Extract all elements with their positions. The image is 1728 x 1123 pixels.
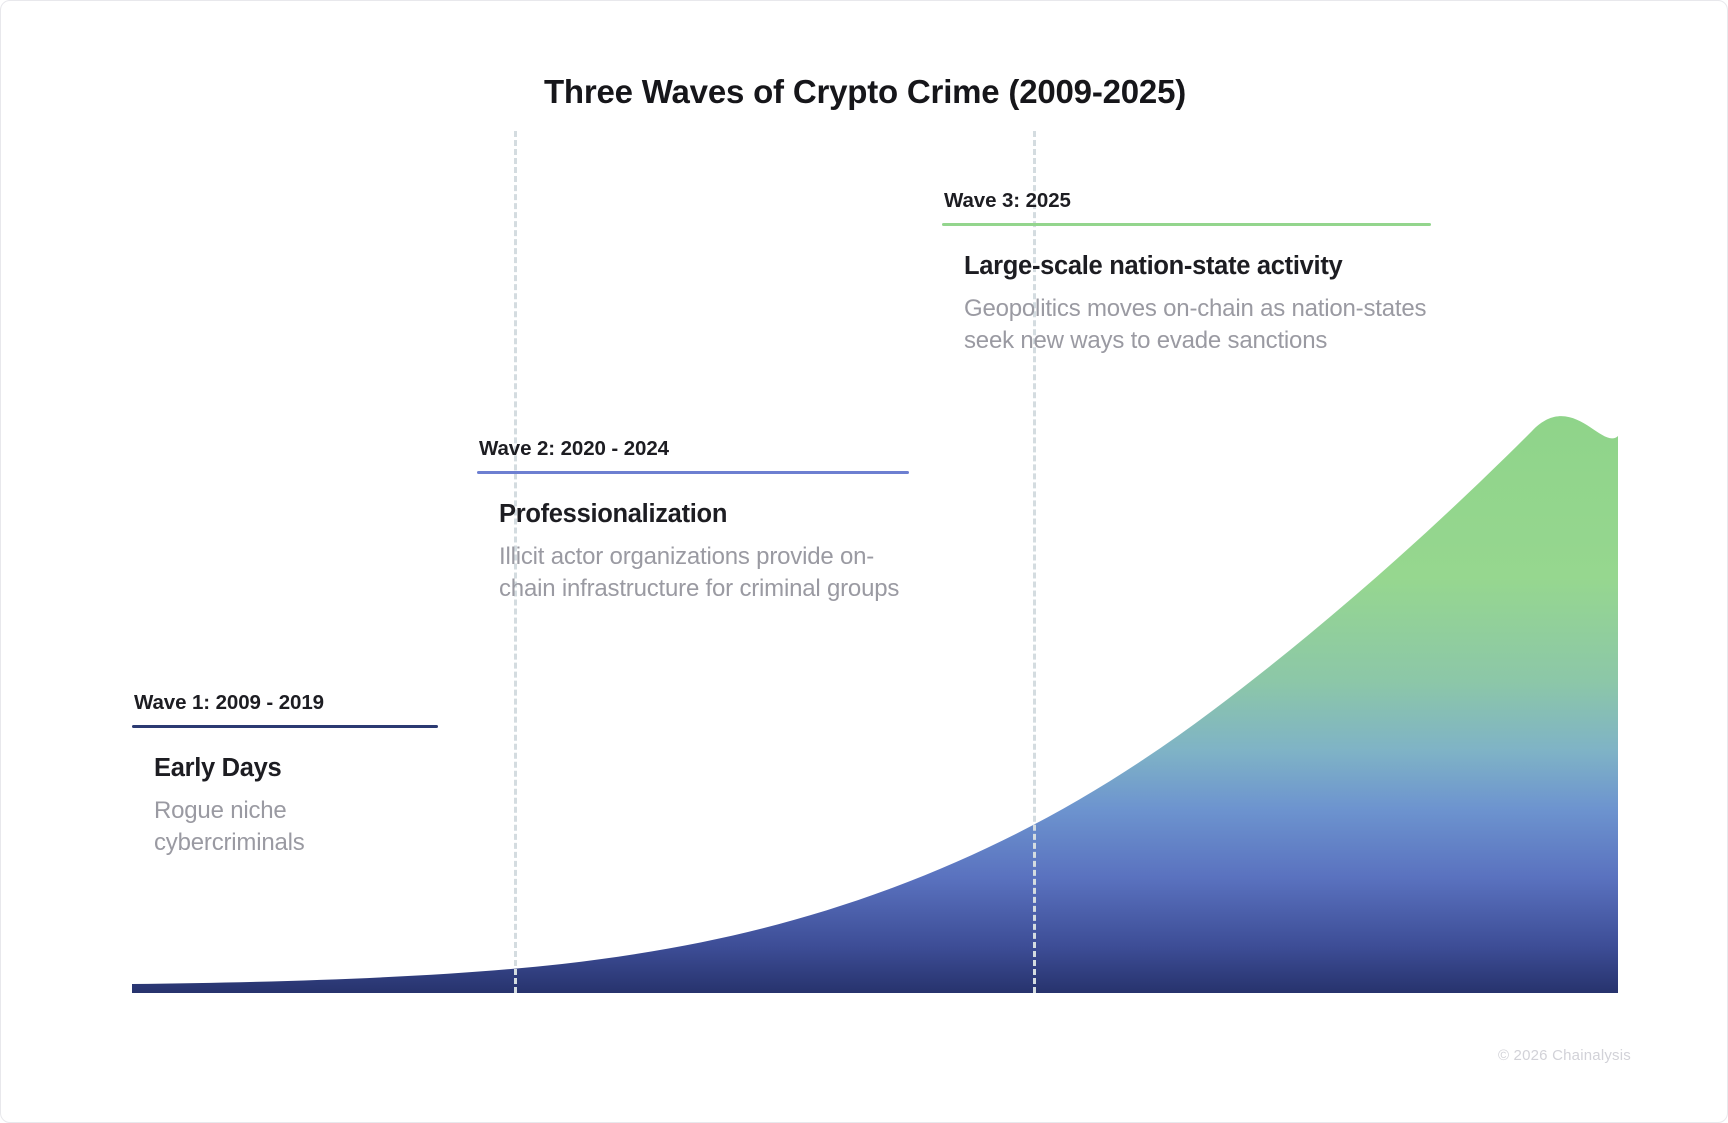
wave-3-description: Geopolitics moves on-chain as nation-sta… (964, 293, 1431, 356)
wave-3-annotation: Wave 3: 2025 Large-scale nation-state ac… (942, 189, 1431, 357)
chart-plot-area: Wave 1: 2009 - 2019 Early Days Rogue nic… (132, 131, 1618, 993)
wave-2-description: Illicit actor organizations provide on-c… (499, 541, 909, 604)
infographic-canvas: Three Waves of Crypto Crime (2009-2025) (0, 0, 1728, 1123)
wave-3-body: Large-scale nation-state activity Geopol… (942, 252, 1431, 357)
wave-1-annotation: Wave 1: 2009 - 2019 Early Days Rogue nic… (132, 691, 438, 859)
wave-1-headline: Early Days (154, 754, 438, 783)
wave-1-period-label: Wave 1: 2009 - 2019 (132, 691, 438, 715)
wave-2-accent-rule (477, 471, 909, 474)
page-title: Three Waves of Crypto Crime (2009-2025) (1, 73, 1728, 111)
wave-1-accent-rule (132, 725, 438, 728)
wave-1-description: Rogue niche cybercriminals (154, 795, 438, 858)
wave-3-period-label: Wave 3: 2025 (942, 189, 1431, 213)
footer-credit: © 2026 Chainalysis (1498, 1047, 1631, 1064)
wave-2-body: Professionalization Illicit actor organi… (477, 500, 909, 605)
wave-3-headline: Large-scale nation-state activity (964, 252, 1431, 281)
wave-2-annotation: Wave 2: 2020 - 2024 Professionalization … (477, 437, 909, 605)
wave-2-headline: Professionalization (499, 500, 909, 529)
wave-3-accent-rule (942, 223, 1431, 226)
wave-1-body: Early Days Rogue niche cybercriminals (132, 754, 438, 859)
wave-2-period-label: Wave 2: 2020 - 2024 (477, 437, 909, 461)
